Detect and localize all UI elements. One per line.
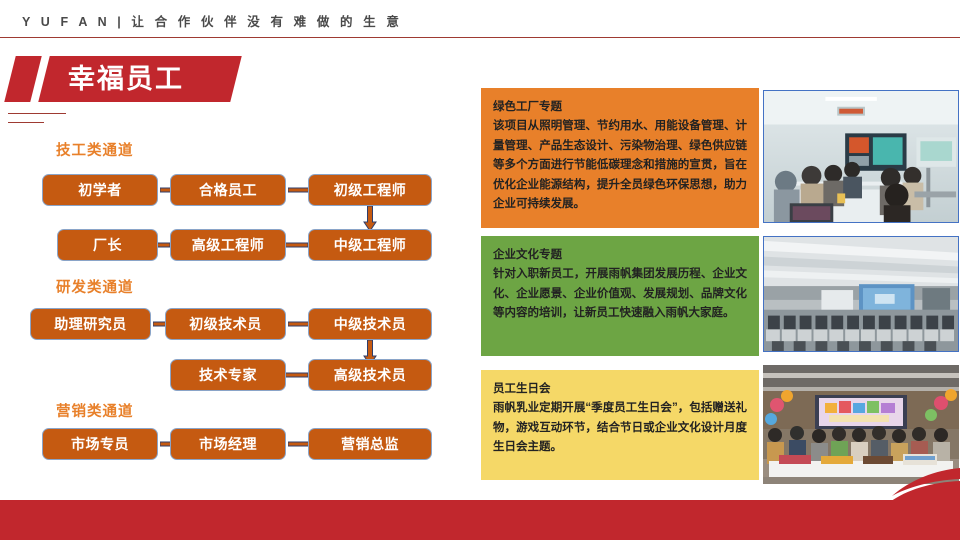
topic-card-birthday: 员工生日会 雨帆乳业定期开展“季度员工生日会”，包括赠送礼物，游戏互动环节，结合… [481, 370, 759, 480]
topic-card-text-2: 企业文化专题 针对入职新员工，开展雨帆集团发展历程、企业文化、企业愿景、企业价值… [481, 236, 759, 332]
topic-photo-meeting-room [763, 90, 959, 223]
topic-card-title-3: 员工生日会 [493, 380, 747, 398]
ladder-node-market-specialist: 市场专员 [42, 428, 158, 460]
channel-label-marketing: 营销类通道 [56, 400, 134, 421]
channel-label-rnd: 研发类通道 [56, 276, 134, 297]
topic-card-title-2: 企业文化专题 [493, 246, 747, 264]
ladder-node-senior-technician: 高级技术员 [308, 359, 432, 391]
ladder-node-mid-technician: 中级技术员 [308, 308, 432, 340]
ladder-node-factory-director: 厂长 [57, 229, 158, 261]
ladder-node-senior-engineer: 高级工程师 [170, 229, 286, 261]
ladder-node-qualified-employee: 合格员工 [170, 174, 286, 206]
topic-photo-auditorium [763, 236, 959, 352]
career-ladder-diagram: 技工类通道 初学者 合格员工 初级工程师 中级工程师 高级工程师 [0, 0, 478, 540]
channel-label-technician: 技工类通道 [56, 139, 134, 160]
topic-card-title-1: 绿色工厂专题 [493, 98, 747, 116]
ladder-node-assistant-researcher: 助理研究员 [30, 308, 151, 340]
topic-photo-birthday-party [763, 365, 959, 484]
topic-card-text-1: 绿色工厂专题 该项目从照明管理、节约用水、用能设备管理、计量管理、产品生态设计、… [481, 88, 759, 223]
topic-card-body-3: 雨帆乳业定期开展“季度员工生日会”，包括赠送礼物，游戏互动环节，结合节日或企业文… [493, 399, 747, 458]
ladder-node-junior-technician: 初级技术员 [165, 308, 286, 340]
footer-band [0, 500, 960, 540]
ladder-node-market-manager: 市场经理 [170, 428, 286, 460]
ladder-node-marketing-director: 营销总监 [308, 428, 432, 460]
topic-card-text-3: 员工生日会 雨帆乳业定期开展“季度员工生日会”，包括赠送礼物，游戏互动环节，结合… [481, 370, 759, 466]
topic-card-body-1: 该项目从照明管理、节约用水、用能设备管理、计量管理、产品生态设计、污染物治理、绿… [493, 117, 747, 215]
topic-card-body-2: 针对入职新员工，开展雨帆集团发展历程、企业文化、企业愿景、企业价值观、发展规划、… [493, 265, 747, 324]
ladder-node-junior-engineer: 初级工程师 [308, 174, 432, 206]
slide-root: Y U F A N | 让 合 作 伙 伴 没 有 难 做 的 生 意 幸福员工… [0, 0, 960, 540]
ladder-node-beginner: 初学者 [42, 174, 158, 206]
footer-swoosh-decor [876, 468, 960, 502]
topic-card-green-factory: 绿色工厂专题 该项目从照明管理、节约用水、用能设备管理、计量管理、产品生态设计、… [481, 88, 759, 228]
ladder-node-technical-expert: 技术专家 [170, 359, 286, 391]
topic-card-corporate-culture: 企业文化专题 针对入职新员工，开展雨帆集团发展历程、企业文化、企业愿景、企业价值… [481, 236, 759, 356]
ladder-node-mid-engineer: 中级工程师 [308, 229, 432, 261]
